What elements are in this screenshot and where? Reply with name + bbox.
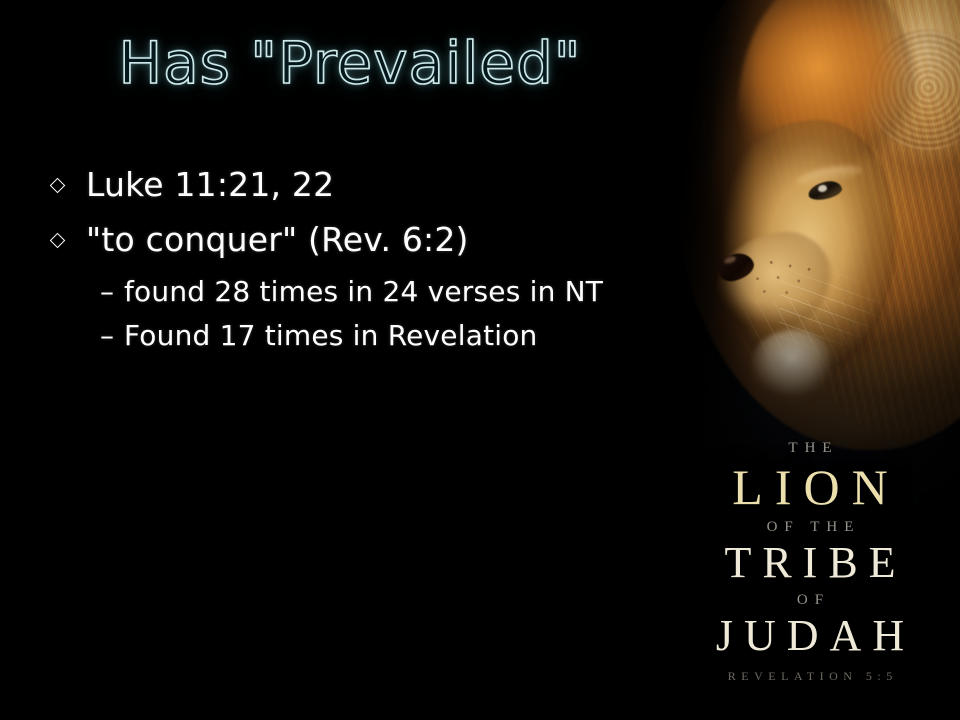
- sub-list-item: – Found 17 times in Revelation: [100, 322, 692, 350]
- lockup-line-lion: LION: [660, 462, 960, 513]
- lockup-line-tribe: TRIBE: [660, 541, 960, 586]
- diamond-bullet-icon: [52, 233, 86, 250]
- list-item-label: "to conquer" (Rev. 6:2): [86, 223, 469, 256]
- sub-list-item-label: found 28 times in 24 verses in NT: [124, 278, 603, 306]
- dash-bullet-icon: –: [100, 322, 124, 350]
- lockup-line-the: THE: [660, 440, 960, 457]
- lockup-reference: REVELATION 5:5: [660, 669, 960, 684]
- lion-whiskers-lower: [728, 300, 878, 440]
- list-item-label: Luke 11:21, 22: [86, 168, 334, 201]
- list-item: Luke 11:21, 22: [52, 168, 692, 201]
- slide-title: Has "Prevailed": [0, 34, 700, 92]
- sub-list-item: – found 28 times in 24 verses in NT: [100, 278, 692, 306]
- bullet-list: Luke 11:21, 22 "to conquer" (Rev. 6:2) –…: [52, 168, 692, 366]
- lockup-line-judah: JUDAH: [660, 614, 960, 659]
- sub-list-item-label: Found 17 times in Revelation: [124, 322, 538, 350]
- lion-of-judah-lockup: THE LION OF THE TRIBE OF JUDAH REVELATIO…: [660, 440, 960, 684]
- dash-bullet-icon: –: [100, 278, 124, 306]
- lockup-line-of-the: OF THE: [660, 519, 960, 536]
- diamond-bullet-icon: [52, 178, 86, 195]
- lockup-line-of: OF: [660, 592, 960, 609]
- list-item: "to conquer" (Rev. 6:2): [52, 223, 692, 256]
- slide-canvas: Has "Prevailed" Luke 11:21, 22 "to conqu…: [0, 0, 960, 720]
